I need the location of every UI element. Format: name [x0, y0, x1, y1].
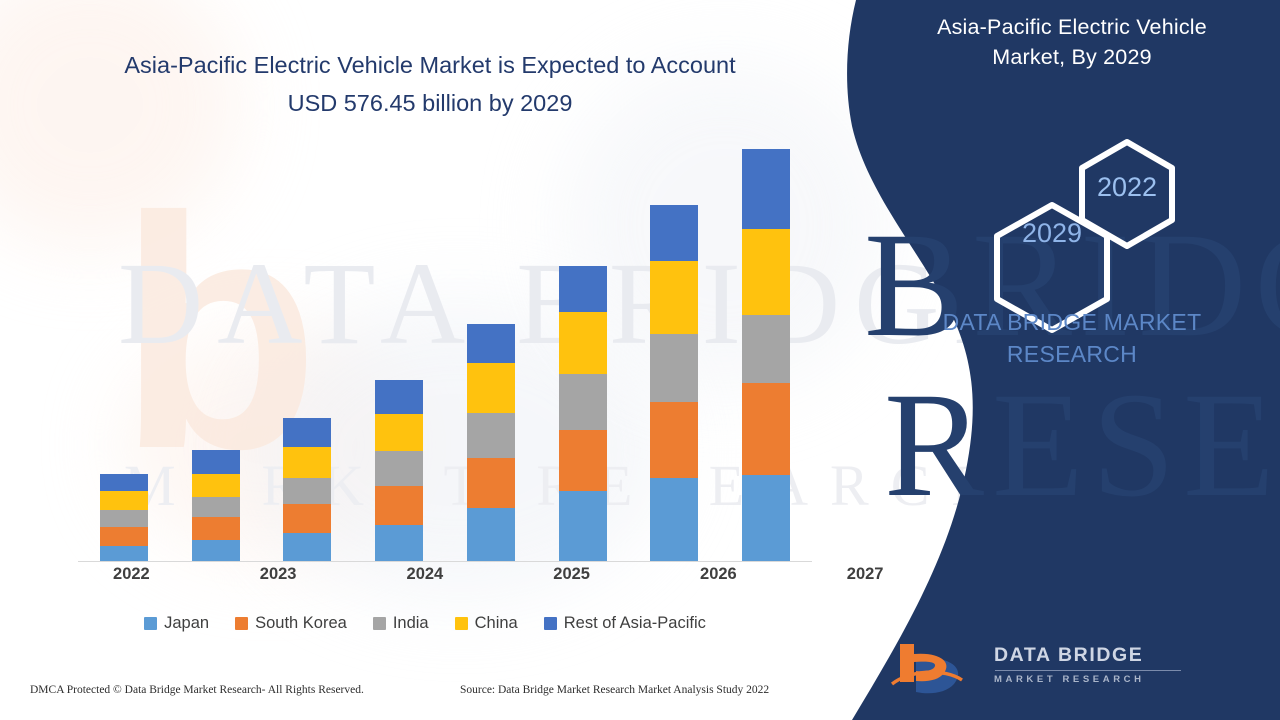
- bar-segment[interactable]: [650, 478, 698, 561]
- bar-segment[interactable]: [650, 402, 698, 477]
- bar-group-2024: [262, 150, 354, 561]
- bar-segment[interactable]: [559, 374, 607, 429]
- bar-segment[interactable]: [100, 527, 148, 546]
- x-tick-label: 2022: [58, 565, 205, 584]
- bar-segment[interactable]: [467, 413, 515, 458]
- bar-segment[interactable]: [192, 517, 240, 540]
- panel-brand-text: DATA BRIDGE MARKET RESEARCH: [880, 306, 1264, 370]
- bar-segment[interactable]: [742, 315, 790, 384]
- legend-label: Rest of Asia-Pacific: [564, 614, 706, 633]
- legend-item[interactable]: Japan: [144, 614, 209, 633]
- poster-canvas: b DATA BRIDGE MARKET RESEARCH Asia-Pacif…: [0, 0, 1280, 720]
- logo-main-text: DATA BRIDGE: [994, 644, 1181, 667]
- bar-segment[interactable]: [375, 414, 423, 450]
- bar-segment[interactable]: [192, 450, 240, 474]
- legend-item[interactable]: Rest of Asia-Pacific: [544, 614, 706, 633]
- page-title-line2: USD 576.45 billion by 2029: [40, 84, 820, 122]
- bar-segment[interactable]: [375, 486, 423, 525]
- bar-segment[interactable]: [467, 363, 515, 413]
- bar-segment[interactable]: [283, 504, 331, 534]
- bar-segment[interactable]: [650, 334, 698, 402]
- x-tick-label: 2025: [498, 565, 645, 584]
- panel-brand-line2: RESEARCH: [880, 338, 1264, 370]
- bar-group-2026: [445, 150, 537, 561]
- footer-copyright: DMCA Protected © Data Bridge Market Rese…: [30, 684, 364, 696]
- bar-segment[interactable]: [192, 497, 240, 517]
- bar-segment[interactable]: [742, 229, 790, 314]
- chart-bars: [78, 150, 812, 561]
- panel-brand-line1: DATA BRIDGE MARKET: [880, 306, 1264, 338]
- legend-swatch: [544, 617, 557, 630]
- right-panel: BRIDGE RESEARCH Asia-Pacific Electric Ve…: [860, 0, 1280, 720]
- legend-label: India: [393, 614, 429, 633]
- stacked-bar[interactable]: [283, 418, 331, 561]
- bar-group-2029: [720, 150, 812, 561]
- bar-segment[interactable]: [283, 533, 331, 561]
- stacked-bar[interactable]: [192, 450, 240, 561]
- footer-source: Source: Data Bridge Market Research Mark…: [460, 684, 769, 696]
- legend-item[interactable]: China: [455, 614, 518, 633]
- bar-segment[interactable]: [192, 540, 240, 561]
- legend-label: China: [475, 614, 518, 633]
- bridge-logo-icon: [890, 640, 986, 698]
- bar-segment[interactable]: [467, 458, 515, 508]
- bar-segment[interactable]: [559, 430, 607, 492]
- bar-segment[interactable]: [283, 418, 331, 448]
- logo-divider: [995, 670, 1181, 671]
- stacked-bar[interactable]: [650, 205, 698, 561]
- hexagon-2022-label: 2022: [1097, 172, 1157, 202]
- page-title-line1: Asia-Pacific Electric Vehicle Market is …: [40, 46, 820, 84]
- brand-logo: DATA BRIDGE MARKET RESEARCH: [890, 640, 1250, 702]
- x-tick-label: 2026: [645, 565, 792, 584]
- page-title: Asia-Pacific Electric Vehicle Market is …: [40, 46, 820, 122]
- stacked-bar-chart: [40, 150, 830, 562]
- bar-segment[interactable]: [467, 508, 515, 561]
- bar-group-2025: [353, 150, 445, 561]
- bar-segment[interactable]: [559, 312, 607, 374]
- legend-label: South Korea: [255, 614, 347, 633]
- bar-group-2027: [537, 150, 629, 561]
- bar-segment[interactable]: [375, 380, 423, 414]
- legend-swatch: [455, 617, 468, 630]
- bar-segment[interactable]: [742, 149, 790, 229]
- legend-item[interactable]: South Korea: [235, 614, 347, 633]
- legend-swatch: [235, 617, 248, 630]
- bar-group-2023: [170, 150, 262, 561]
- chart-x-axis: [78, 561, 812, 562]
- legend-item[interactable]: India: [373, 614, 429, 633]
- bar-segment[interactable]: [100, 510, 148, 527]
- logo-sub-text: MARKET RESEARCH: [994, 674, 1181, 685]
- chart-plot-area: [60, 150, 820, 562]
- stacked-bar[interactable]: [100, 474, 148, 561]
- bar-segment[interactable]: [650, 261, 698, 334]
- stacked-bar[interactable]: [742, 149, 790, 561]
- bar-segment[interactable]: [650, 205, 698, 261]
- stacked-bar[interactable]: [467, 324, 515, 561]
- bar-segment[interactable]: [375, 525, 423, 561]
- bar-segment[interactable]: [100, 491, 148, 510]
- hexagon-2029-label: 2029: [1022, 218, 1082, 248]
- bar-segment[interactable]: [742, 475, 790, 561]
- x-tick-label: 2024: [352, 565, 499, 584]
- bar-segment[interactable]: [192, 474, 240, 497]
- footer: DMCA Protected © Data Bridge Market Rese…: [0, 684, 860, 706]
- logo-wordmark: DATA BRIDGE MARKET RESEARCH: [994, 644, 1181, 685]
- bar-segment[interactable]: [375, 451, 423, 486]
- legend-label: Japan: [164, 614, 209, 633]
- bar-segment[interactable]: [283, 447, 331, 478]
- bar-segment[interactable]: [467, 324, 515, 363]
- bar-segment[interactable]: [742, 383, 790, 475]
- legend-swatch: [144, 617, 157, 630]
- bar-group-2028: [629, 150, 721, 561]
- stacked-bar[interactable]: [375, 380, 423, 561]
- bar-segment[interactable]: [559, 491, 607, 561]
- bar-segment[interactable]: [559, 266, 607, 312]
- bar-segment[interactable]: [283, 478, 331, 503]
- bar-segment[interactable]: [100, 474, 148, 492]
- x-tick-label: 2023: [205, 565, 352, 584]
- stacked-bar[interactable]: [559, 266, 607, 561]
- bar-group-2022: [78, 150, 170, 561]
- bar-segment[interactable]: [100, 546, 148, 561]
- legend-swatch: [373, 617, 386, 630]
